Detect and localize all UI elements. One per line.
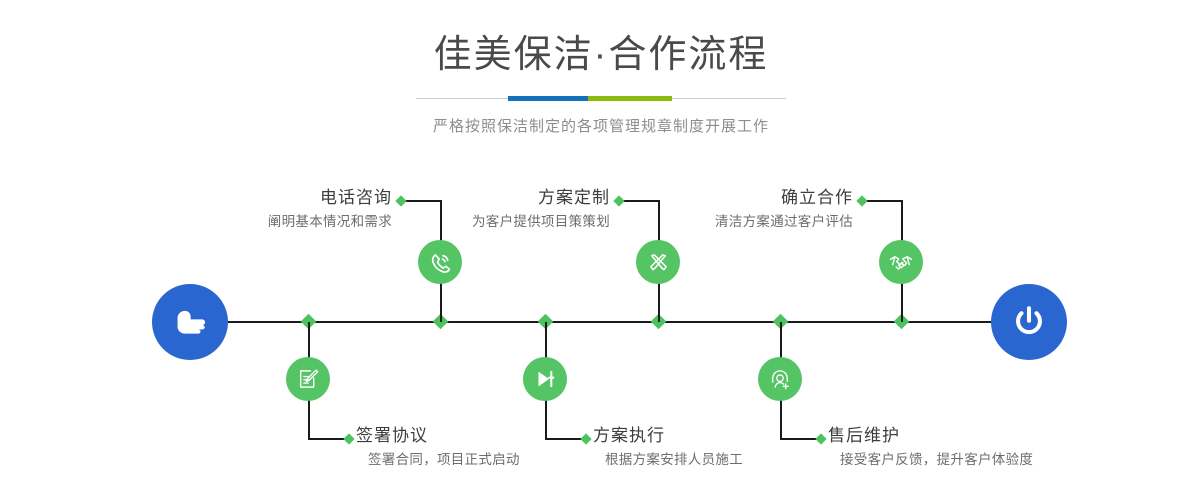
step-title: 售后维护 bbox=[828, 426, 1158, 446]
step-title: 方案定制 bbox=[340, 188, 610, 208]
step-node-top-2 bbox=[636, 240, 680, 284]
step-desc: 接受客户反馈，提升客户体验度 bbox=[828, 446, 1158, 470]
divider-segment-blue bbox=[508, 96, 588, 101]
step-node-bottom-2 bbox=[523, 357, 567, 401]
power-icon bbox=[1009, 302, 1049, 342]
handshake-icon bbox=[887, 248, 915, 276]
pencil-design-icon bbox=[645, 249, 672, 276]
branch-tip-diamond-top-3 bbox=[856, 195, 867, 206]
step-title: 确立合作 bbox=[585, 188, 853, 208]
step-desc: 清洁方案通过客户评估 bbox=[585, 208, 853, 232]
timeline-end-node bbox=[991, 284, 1067, 360]
page-subtitle: 严格按照保洁制定的各项管理规章制度开展工作 bbox=[0, 101, 1202, 136]
title-divider bbox=[416, 96, 786, 101]
step-node-top-3 bbox=[879, 240, 923, 284]
step-node-bottom-1 bbox=[286, 357, 330, 401]
document-edit-icon bbox=[295, 366, 321, 392]
timeline-start-node bbox=[152, 284, 228, 360]
header: 佳美保洁·合作流程 严格按照保洁制定的各项管理规章制度开展工作 bbox=[0, 0, 1202, 136]
cooperation-process-infographic: 佳美保洁·合作流程 严格按照保洁制定的各项管理规章制度开展工作 bbox=[0, 0, 1202, 502]
step-label-top-3: 确立合作 清洁方案通过客户评估 bbox=[585, 188, 853, 232]
step-desc: 为客户提供项目策策划 bbox=[340, 208, 610, 232]
branch-tip-diamond-bottom-1 bbox=[343, 433, 354, 444]
phone-call-icon bbox=[427, 249, 454, 276]
page-title: 佳美保洁·合作流程 bbox=[0, 0, 1202, 78]
pointing-hand-icon bbox=[169, 301, 211, 343]
customer-support-icon bbox=[767, 366, 793, 392]
step-node-top-1 bbox=[418, 240, 462, 284]
step-label-top-2: 方案定制 为客户提供项目策策划 bbox=[340, 188, 610, 232]
step-label-bottom-3: 售后维护 接受客户反馈，提升客户体验度 bbox=[828, 426, 1158, 470]
play-execute-icon bbox=[532, 366, 558, 392]
step-node-bottom-3 bbox=[758, 357, 802, 401]
divider-segment-green bbox=[588, 96, 672, 101]
branch-elbow-top-3 bbox=[862, 200, 903, 202]
